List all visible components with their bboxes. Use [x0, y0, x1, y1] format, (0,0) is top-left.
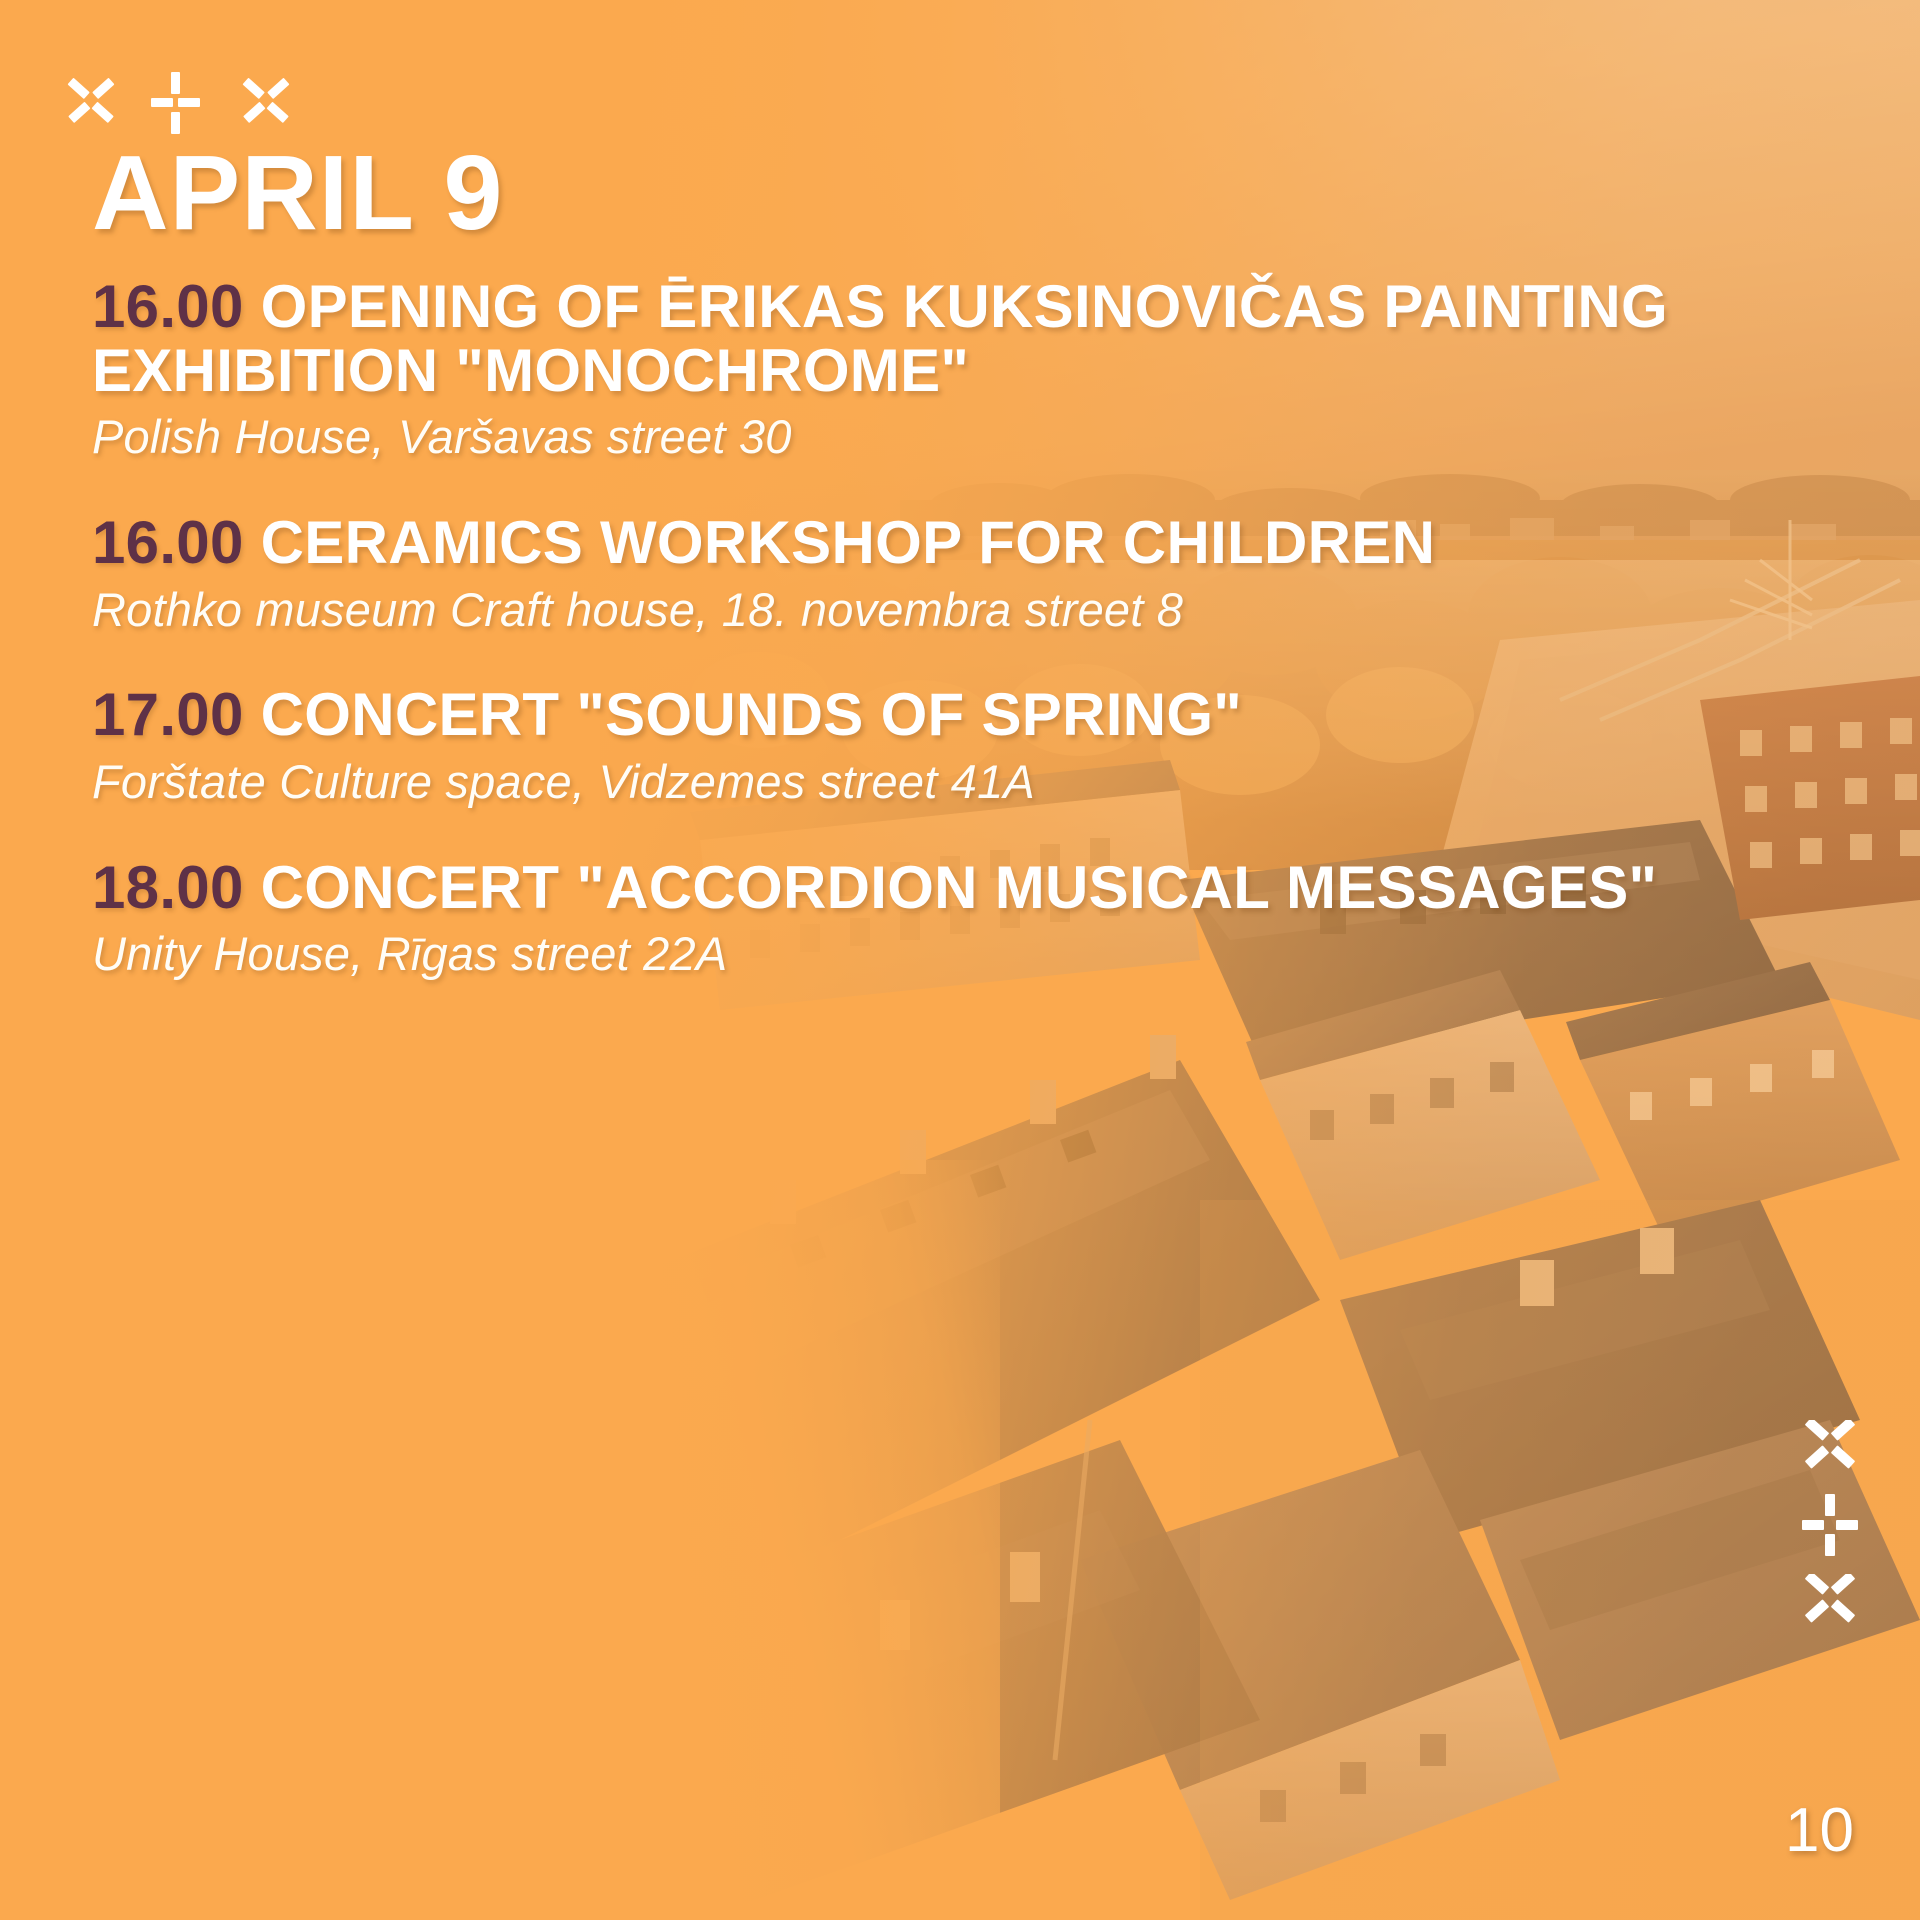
event-venue: Forštate Culture space, Vidzemes street … [92, 753, 1832, 812]
decoration-group-top [66, 70, 296, 140]
event-item: 18.00 CONCERT "ACCORDION MUSICAL MESSAGE… [92, 856, 1832, 984]
sparkle-x-icon [242, 78, 289, 123]
page-number: 10 [1785, 1800, 1854, 1862]
event-heading: 16.00 CERAMICS WORKSHOP FOR CHILDREN [92, 511, 1832, 575]
event-venue: Rothko museum Craft house, 18. novembra … [92, 581, 1832, 640]
sparkle-x-icon [67, 78, 114, 123]
sparkle-x-icon [1802, 1574, 1858, 1630]
event-venue: Unity House, Rīgas street 22A [92, 925, 1832, 984]
event-time: 16.00 [92, 273, 261, 340]
event-heading: 18.00 CONCERT "ACCORDION MUSICAL MESSAGE… [92, 856, 1832, 920]
event-time: 18.00 [92, 854, 261, 921]
event-item: 16.00 CERAMICS WORKSHOP FOR CHILDREN Rot… [92, 511, 1832, 639]
sparkle-plus-icon [151, 72, 200, 134]
decoration-group-bottom [1802, 1420, 1858, 1630]
event-title: CONCERT "SOUNDS OF SPRING" [261, 681, 1242, 748]
sparkle-x-icon [1802, 1420, 1858, 1476]
event-list: 16.00 OPENING OF ĒRIKAS KUKSINOVIČAS PAI… [92, 275, 1832, 984]
event-heading: 17.00 CONCERT "SOUNDS OF SPRING" [92, 683, 1832, 747]
event-title: OPENING OF ĒRIKAS KUKSINOVIČAS PAINTING … [92, 273, 1668, 404]
sparkle-plus-icon [1802, 1494, 1858, 1556]
page-title: APRIL 9 [92, 140, 504, 246]
event-heading: 16.00 OPENING OF ĒRIKAS KUKSINOVIČAS PAI… [92, 275, 1832, 402]
event-item: 16.00 OPENING OF ĒRIKAS KUKSINOVIČAS PAI… [92, 275, 1832, 467]
event-title: CONCERT "ACCORDION MUSICAL MESSAGES" [261, 854, 1658, 921]
event-time: 17.00 [92, 681, 261, 748]
event-title: CERAMICS WORKSHOP FOR CHILDREN [261, 509, 1436, 576]
event-item: 17.00 CONCERT "SOUNDS OF SPRING" Forštat… [92, 683, 1832, 811]
event-time: 16.00 [92, 509, 261, 576]
event-venue: Polish House, Varšavas street 30 [92, 408, 1832, 467]
